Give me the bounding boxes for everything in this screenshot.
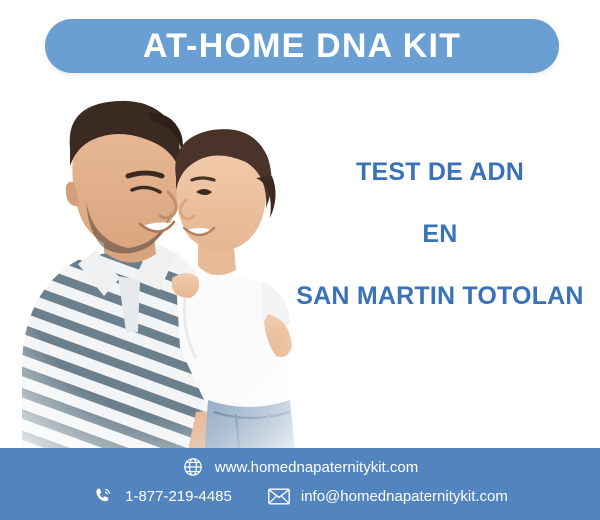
footer-phone[interactable]: 1-877-219-4485 [92, 485, 232, 507]
phone-icon [92, 485, 114, 507]
family-photo [0, 82, 320, 460]
headline-line-2: EN [290, 222, 590, 247]
footer-phone-label: 1-877-219-4485 [125, 489, 232, 504]
headline-line-3: SAN MARTIN TOTOLAN [290, 284, 590, 309]
footer-website[interactable]: www.homednapaternitykit.com [182, 456, 418, 478]
footer-email[interactable]: info@homednapaternitykit.com [268, 485, 508, 507]
poster-canvas: AT-HOME DNA KIT [0, 0, 600, 520]
footer-contact-row: 1-877-219-4485 info@homednapaternitykit.… [0, 485, 600, 507]
headline-line-1: TEST DE ADN [290, 160, 590, 185]
envelope-icon [268, 485, 290, 507]
globe-icon [182, 456, 204, 478]
family-photo-illustration [0, 82, 320, 460]
header-title: AT-HOME DNA KIT [143, 29, 461, 63]
footer-website-label: www.homednapaternitykit.com [215, 460, 418, 475]
footer-email-label: info@homednapaternitykit.com [301, 489, 508, 504]
footer-bar: www.homednapaternitykit.com 1-877-219-44… [0, 448, 600, 520]
footer-website-row: www.homednapaternitykit.com [0, 456, 600, 478]
header-banner: AT-HOME DNA KIT [45, 19, 559, 73]
headline-block: TEST DE ADN EN SAN MARTIN TOTOLAN [290, 160, 590, 309]
